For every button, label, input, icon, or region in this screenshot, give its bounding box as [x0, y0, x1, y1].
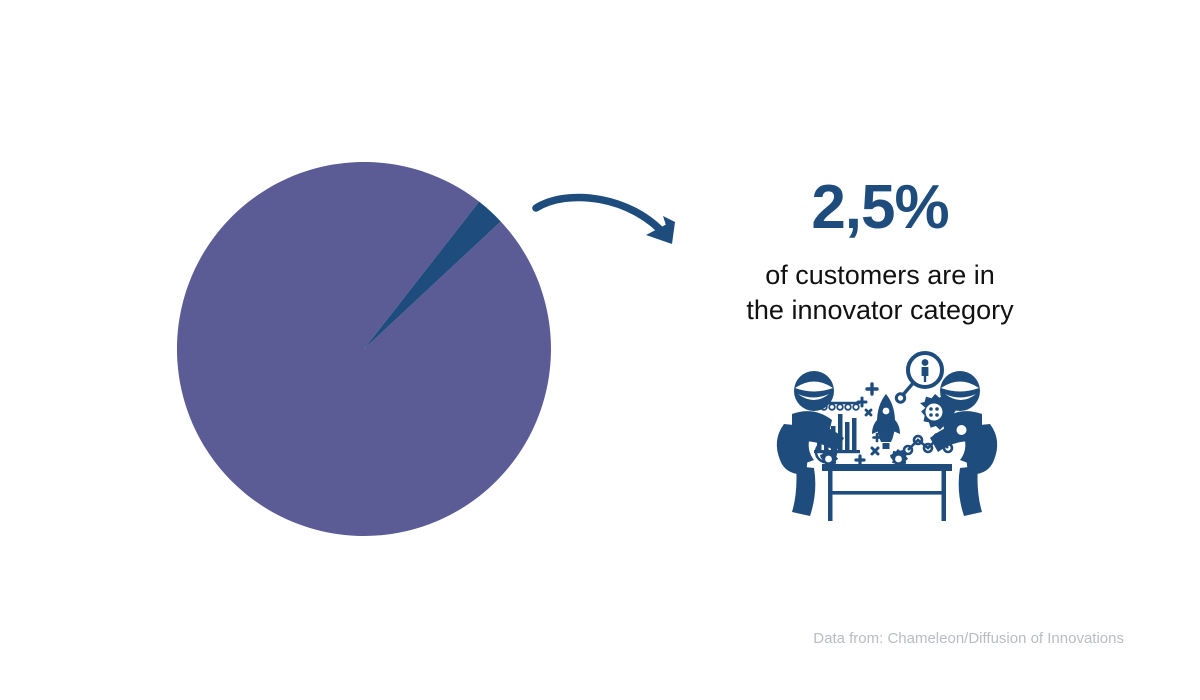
stat-value: 2,5%: [700, 175, 1060, 240]
chain-dots-icon: [820, 403, 860, 410]
source-attribution: Data from: Chameleon/Diffusion of Innova…: [813, 630, 1124, 647]
infographic-canvas: 2,5% of customers are in the innovator c…: [0, 0, 1200, 700]
pie-chart: [177, 162, 551, 536]
stat-caption: of customers are in the innovator catego…: [700, 258, 1060, 327]
arrow-shaft: [536, 197, 666, 236]
curved-arrow: [520, 180, 700, 265]
callout-block: 2,5% of customers are in the innovator c…: [700, 175, 1060, 327]
pie-chart-svg: [177, 162, 551, 536]
curved-arrow-icon: [520, 180, 700, 265]
table-icon: [822, 464, 952, 521]
innovation-team-illustration: [762, 348, 1012, 526]
stat-caption-line-2: the innovator category: [700, 293, 1060, 328]
stat-caption-line-1: of customers are in: [700, 258, 1060, 293]
innovation-team-illustration-svg: [762, 348, 1012, 526]
